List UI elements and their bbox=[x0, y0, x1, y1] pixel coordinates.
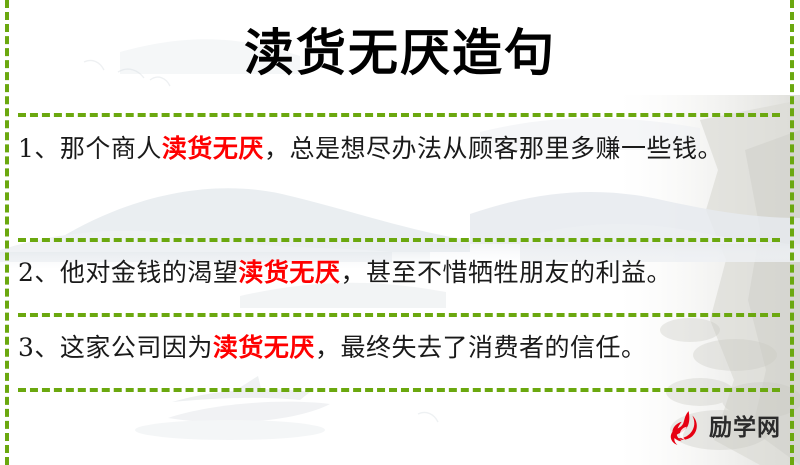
page-root: 渎货无厌造句 1、那个商人渎货无厌，总是想尽办法从顾客那里多赚一些钱。 2、他对… bbox=[0, 0, 800, 465]
sentence-3-text-after: ，最终失去了消费者的信任。 bbox=[315, 333, 647, 362]
sentence-2-idiom: 渎货无厌 bbox=[238, 258, 340, 287]
sentence-2-text-after: ，甚至不惜牺牲朋友的利益。 bbox=[340, 258, 672, 287]
sentence-2-text-before: 他对金钱的渴望 bbox=[60, 258, 239, 287]
sentence-3-idiom: 渎货无厌 bbox=[213, 333, 315, 362]
sentence-1-idiom: 渎货无厌 bbox=[162, 134, 264, 163]
sentence-1-number: 1、 bbox=[18, 134, 60, 163]
site-watermark: 励学网 bbox=[663, 408, 781, 448]
frame-border-right bbox=[790, 0, 794, 465]
flame-swirl-icon bbox=[663, 408, 703, 448]
divider-after-sentence-2 bbox=[18, 313, 780, 317]
watermark-label: 励学网 bbox=[709, 408, 781, 448]
divider-below-title bbox=[18, 113, 780, 117]
sentence-3-text-before: 这家公司因为 bbox=[60, 333, 213, 362]
example-sentence-3: 3、这家公司因为渎货无厌，最终失去了消费者的信任。 bbox=[18, 327, 778, 369]
sentence-1-text-after: ，总是想尽办法从顾客那里多赚一些钱。 bbox=[264, 134, 723, 163]
example-sentence-2: 2、他对金钱的渴望渎货无厌，甚至不惜牺牲朋友的利益。 bbox=[18, 252, 778, 294]
sentence-2-number: 2、 bbox=[18, 258, 60, 287]
divider-after-sentence-3 bbox=[18, 388, 780, 392]
sentence-1-text-before: 那个商人 bbox=[60, 134, 162, 163]
example-sentence-1: 1、那个商人渎货无厌，总是想尽办法从顾客那里多赚一些钱。 bbox=[18, 128, 778, 170]
sentence-3-number: 3、 bbox=[18, 333, 60, 362]
page-title: 渎货无厌造句 bbox=[0, 22, 800, 84]
frame-border-left bbox=[5, 0, 9, 465]
divider-after-sentence-1 bbox=[18, 238, 780, 242]
